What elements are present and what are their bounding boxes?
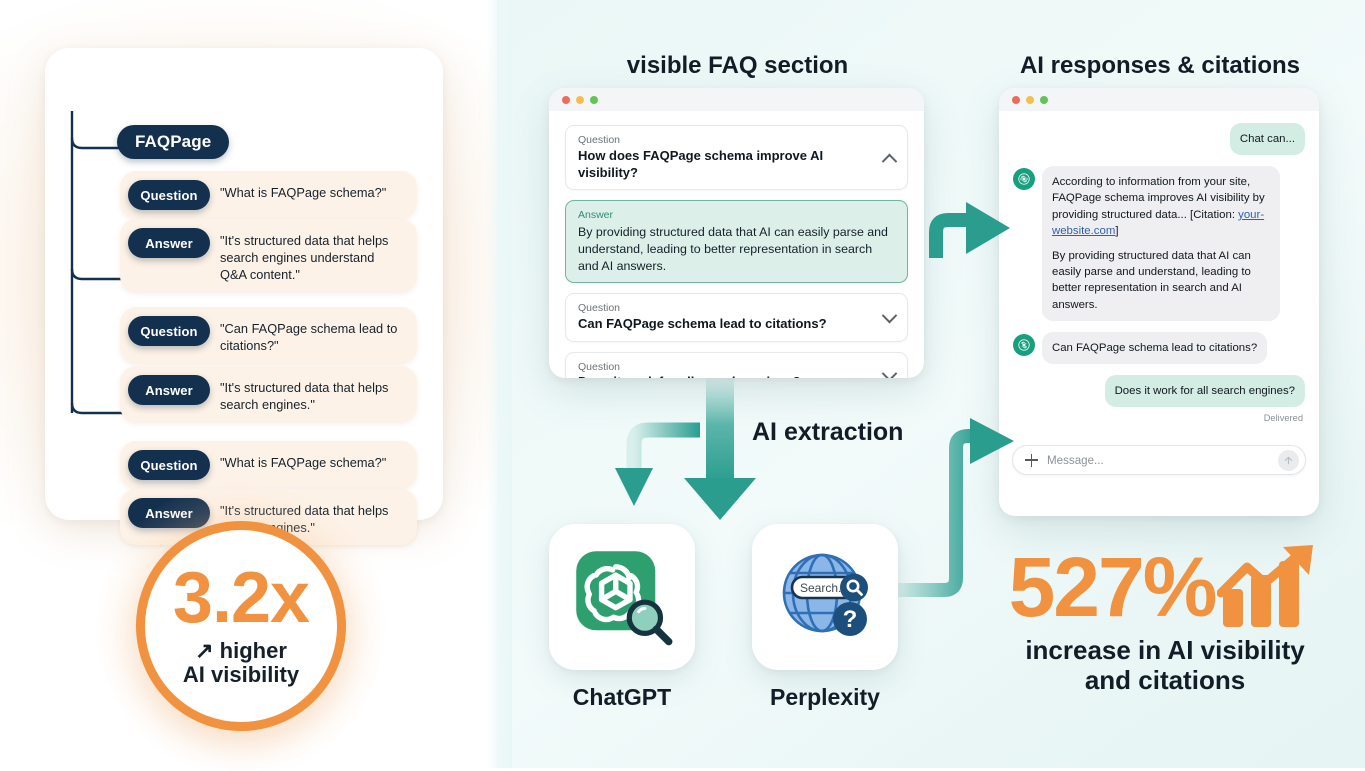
- trend-up-arrow-icon: ↗: [195, 638, 213, 663]
- chat-message-user-1: Chat can...: [1013, 123, 1305, 155]
- tool-name-perplexity: Perplexity: [752, 684, 898, 711]
- message-status: Delivered: [1013, 413, 1303, 423]
- chat-text-pre-citation: According to information from your site,…: [1052, 176, 1265, 220]
- faq-item-question: How does FAQPage schema improve AI visib…: [578, 148, 895, 182]
- chat-bubble: Does it work for all search engines?: [1105, 375, 1305, 407]
- close-window-dot[interactable]: [562, 96, 570, 104]
- schema-row-text: "It's structured data that helps search …: [220, 374, 403, 414]
- faq-browser-window: Question How does FAQPage schema improve…: [549, 88, 924, 378]
- chat-paragraph-with-citation: According to information from your site,…: [1052, 174, 1270, 239]
- chat-message-assistant-2: Can FAQPage schema lead to citations?: [1013, 332, 1305, 364]
- schema-row-text: "It's structured data that helps search …: [220, 227, 403, 284]
- stat-caption: ↗ higher AI visibility: [183, 639, 299, 688]
- tool-card-perplexity[interactable]: Search... ? Perplexity: [752, 524, 898, 711]
- schema-row-text: "What is FAQPage schema?": [220, 179, 386, 202]
- faq-answer-label: Answer: [578, 209, 895, 223]
- faq-item-label: Question: [578, 302, 895, 316]
- chat-bubble: According to information from your site,…: [1042, 166, 1280, 321]
- window-titlebar: [549, 88, 924, 111]
- faq-accordion-answer-panel: Answer By providing structured data that…: [565, 200, 908, 283]
- ai-chat-window: Chat can... According to information fro…: [999, 88, 1319, 516]
- faq-answer-text: By providing structured data that AI can…: [578, 224, 895, 274]
- faq-accordion-item-1[interactable]: Question How does FAQPage schema improve…: [565, 125, 908, 190]
- plus-icon[interactable]: [1025, 454, 1038, 467]
- faq-item-label: Question: [578, 361, 895, 375]
- faq-item-question: Does it work for all search engines?: [578, 374, 895, 378]
- faq-accordion-item-2[interactable]: Question Can FAQPage schema lead to cita…: [565, 293, 908, 342]
- schema-row-answer-1[interactable]: Answer "It's structured data that helps …: [120, 219, 417, 292]
- chat-text-post-citation: ]: [1115, 225, 1118, 237]
- chat-message-list: Chat can... According to information fro…: [999, 111, 1319, 487]
- faq-item-question: Can FAQPage schema lead to citations?: [578, 316, 895, 333]
- window-titlebar: [999, 88, 1319, 111]
- send-arrow-icon[interactable]: [1278, 450, 1299, 471]
- trending-up-chart-icon: [1217, 545, 1321, 631]
- maximize-window-dot[interactable]: [1040, 96, 1048, 104]
- ai-responses-heading: AI responses & citations: [995, 52, 1325, 80]
- ai-extraction-label: AI extraction: [752, 418, 903, 447]
- minimize-window-dot[interactable]: [576, 96, 584, 104]
- chat-bubble: Can FAQPage schema lead to citations?: [1042, 332, 1267, 364]
- tool-name-chatgpt: ChatGPT: [549, 684, 695, 711]
- close-window-dot[interactable]: [1012, 96, 1020, 104]
- chatgpt-avatar-icon: [1013, 334, 1035, 356]
- stat-value: 3.2x: [173, 564, 309, 632]
- chat-message-assistant-1: According to information from your site,…: [1013, 166, 1305, 321]
- faq-accordion-item-3[interactable]: Question Does it work for all search eng…: [565, 352, 908, 378]
- schema-row-type-badge: Question: [128, 180, 210, 210]
- schema-row-type-badge: Answer: [128, 228, 210, 258]
- maximize-window-dot[interactable]: [590, 96, 598, 104]
- schema-root-node[interactable]: FAQPage: [117, 125, 229, 159]
- panel-divider: [486, 0, 512, 768]
- schema-tree-card: FAQPage Question "What is FAQPage schema…: [45, 48, 443, 520]
- tool-card-chatgpt[interactable]: ChatGPT: [549, 524, 695, 711]
- faq-item-label: Question: [578, 134, 895, 148]
- chatgpt-search-icon: [570, 545, 674, 649]
- schema-row-text: "What is FAQPage schema?": [220, 449, 386, 472]
- chatgpt-avatar-icon: [1013, 168, 1035, 190]
- stat-caption-line1: higher: [220, 638, 287, 663]
- perplexity-globe-icon: Search... ?: [770, 545, 880, 649]
- perplexity-search-field: Search...: [792, 574, 868, 602]
- chat-paragraph-2: By providing structured data that AI can…: [1052, 248, 1270, 313]
- stat-caption-line2: and citations: [1085, 665, 1245, 695]
- perplexity-icon-tile: Search... ?: [752, 524, 898, 670]
- stat-badge-multiplier: 3.2x ↗ higher AI visibility: [136, 521, 346, 731]
- schema-row-type-badge: Question: [128, 316, 210, 346]
- stat-caption-line1: increase in AI visibility: [1025, 635, 1304, 665]
- perplexity-search-placeholder: Search...: [800, 581, 848, 595]
- chat-message-user-2: Does it work for all search engines?: [1013, 375, 1305, 407]
- chat-bubble: Chat can...: [1230, 123, 1305, 155]
- faq-accordion-list: Question How does FAQPage schema improve…: [549, 111, 924, 378]
- minimize-window-dot[interactable]: [1026, 96, 1034, 104]
- chat-composer[interactable]: Message...: [1012, 445, 1306, 475]
- schema-row-type-badge: Question: [128, 450, 210, 480]
- stat-value: 527%: [1009, 549, 1216, 626]
- schema-row-answer-2[interactable]: Answer "It's structured data that helps …: [120, 366, 417, 422]
- stat-badge-increase: 527% increase in AI visibility and citat…: [1000, 545, 1330, 695]
- schema-row-text: "Can FAQPage schema lead to citations?": [220, 315, 403, 355]
- schema-row-question-3[interactable]: Question "What is FAQPage schema?": [120, 441, 417, 488]
- infographic-canvas: FAQPage Question "What is FAQPage schema…: [0, 0, 1365, 768]
- schema-row-question-2[interactable]: Question "Can FAQPage schema lead to cit…: [120, 307, 417, 363]
- stat-caption-line2: AI visibility: [183, 662, 299, 687]
- stat-value-row: 527%: [1000, 545, 1330, 631]
- message-input[interactable]: Message...: [1047, 454, 1269, 467]
- faq-section-heading: visible FAQ section: [545, 52, 930, 80]
- schema-row-question-1[interactable]: Question "What is FAQPage schema?": [120, 171, 417, 218]
- schema-row-type-badge: Answer: [128, 375, 210, 405]
- question-mark-icon: ?: [843, 606, 858, 633]
- stat-caption: increase in AI visibility and citations: [1000, 635, 1330, 695]
- chatgpt-icon-tile: [549, 524, 695, 670]
